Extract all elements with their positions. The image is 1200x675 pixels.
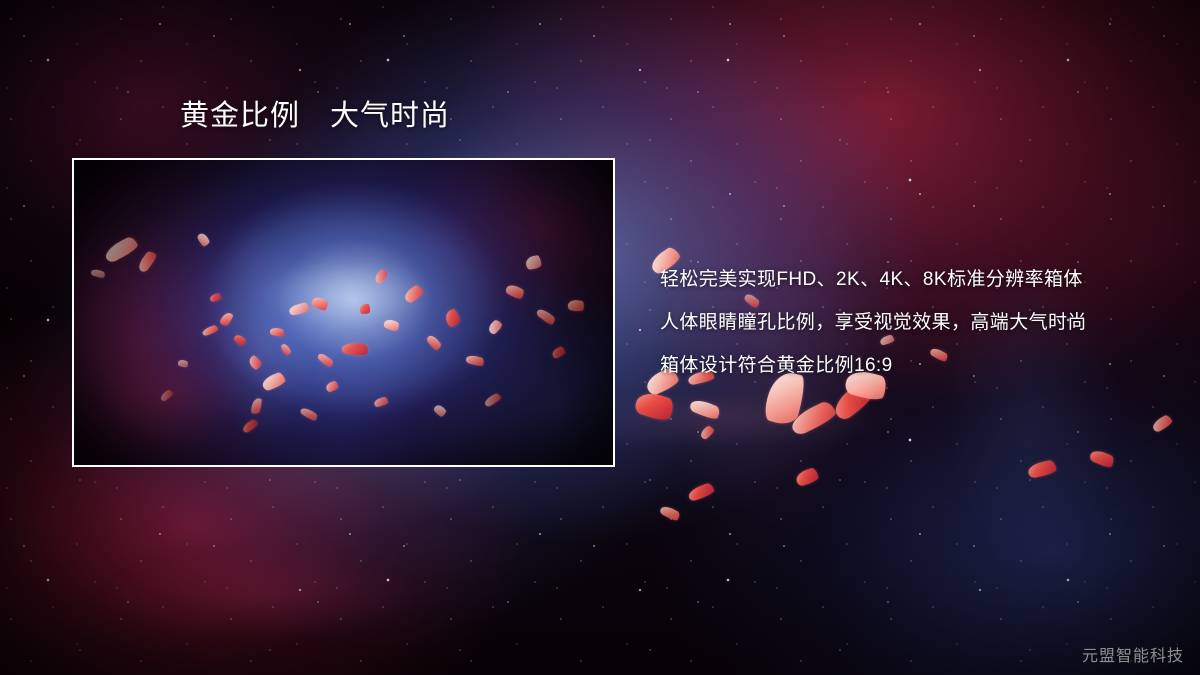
- petal: [699, 425, 716, 441]
- panel-vignette: [74, 160, 613, 465]
- petal: [1088, 448, 1115, 470]
- petal: [659, 504, 681, 522]
- petal: [794, 467, 819, 487]
- watermark: 元盟智能科技: [1082, 642, 1184, 666]
- presentation-slide: 黄金比例 大气时尚 轻松完美实现FHD、2K、4K、8K标准分辨率箱体 人体眼睛…: [0, 0, 1200, 675]
- body-line-1: 轻松完美实现FHD、2K、4K、8K标准分辨率箱体: [660, 258, 1160, 301]
- petal: [687, 482, 716, 502]
- body-line-3: 箱体设计符合黄金比例16:9: [660, 344, 1160, 387]
- petal: [1027, 459, 1057, 479]
- petal: [633, 389, 676, 423]
- body-line-2: 人体眼睛瞳孔比例，享受视觉效果，高端大气时尚: [660, 301, 1160, 344]
- petal: [688, 397, 721, 421]
- page-title: 黄金比例 大气时尚: [180, 101, 450, 133]
- framed-image-panel: [72, 158, 615, 467]
- petal: [788, 399, 838, 437]
- petal: [1151, 414, 1174, 434]
- body-text-block: 轻松完美实现FHD、2K、4K、8K标准分辨率箱体 人体眼睛瞳孔比例，享受视觉效…: [660, 258, 1160, 387]
